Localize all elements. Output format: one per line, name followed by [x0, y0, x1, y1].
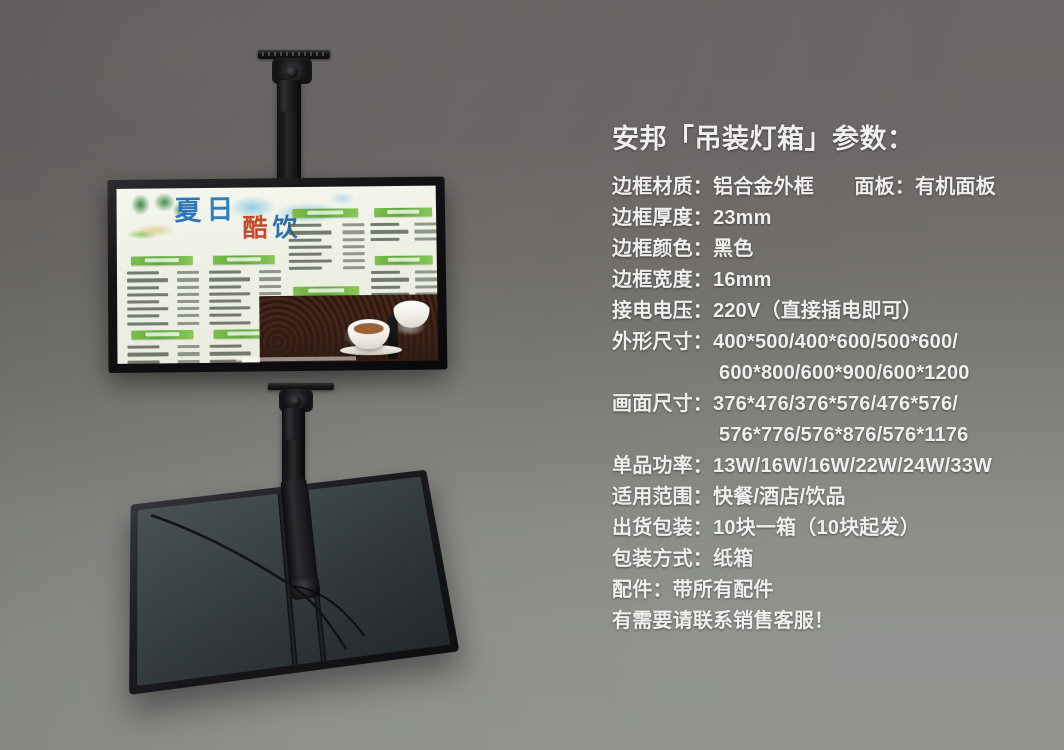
menu-item-name: [288, 224, 321, 227]
menu-item-name: [371, 271, 400, 274]
menu-item-price: [177, 285, 199, 288]
menu-item-row: [371, 269, 437, 275]
menu-section-header: [131, 256, 193, 266]
rear-swivel-hub: [289, 574, 321, 600]
menu-item-name: [289, 238, 322, 241]
menu-item-name: [128, 360, 160, 363]
menu-item-name: [209, 292, 250, 296]
menu-item-price: [414, 230, 436, 233]
spec-line: 边框材质：铝合金外框 面板：有机面板: [612, 172, 1042, 203]
spec-line: 边框厚度：23mm: [612, 203, 1042, 234]
menu-item-name: [289, 267, 322, 270]
spec-line: 画面尺寸：376*476/376*576/476*576/: [612, 389, 1042, 420]
menu-item-name: [127, 279, 168, 283]
menu-item-name: [209, 321, 250, 325]
menu-item-row: [371, 277, 437, 283]
menu-item-name: [370, 223, 399, 226]
menu-item-row: [128, 358, 200, 364]
lightbox-upper: 夏 日 酷 饮: [107, 177, 447, 373]
menu-item-name: [209, 306, 250, 310]
menu-item-price: [259, 270, 281, 273]
coffee-photo: [259, 294, 438, 362]
menu-section-header: [213, 255, 275, 265]
menu-item-row: [288, 222, 364, 228]
spec-line: 有需要请联系销售客服！: [612, 606, 1042, 637]
specification-list: 边框材质：铝合金外框 面板：有机面板边框厚度：23mm边框颜色：黑色边框宽度：1…: [612, 172, 1042, 637]
menu-item-row: [127, 306, 199, 312]
menu-section-header: [375, 255, 433, 265]
menu-item-price: [259, 277, 281, 280]
menu-item-price: [177, 307, 199, 310]
menu-item-price: [343, 245, 365, 248]
menu-item-name: [371, 278, 409, 281]
spec-line: 包装方式：纸箱: [612, 544, 1042, 575]
menu-item-price: [259, 292, 281, 295]
menu-item-row: [209, 276, 281, 282]
menu-item-name: [127, 315, 159, 318]
headline-char-1: 夏: [174, 198, 201, 225]
menu-item-name: [289, 260, 332, 264]
menu-item-name: [209, 271, 241, 274]
menu-item-row: [127, 270, 199, 276]
product-photo-scene: 夏 日 酷 饮: [0, 0, 1064, 750]
menu-item-name: [371, 285, 400, 288]
spec-line: 单品功率：13W/16W/16W/22W/24W/33W: [612, 451, 1042, 482]
menu-item-price: [415, 285, 437, 288]
menu-item-name: [209, 285, 241, 288]
menu-item-name: [127, 307, 168, 311]
menu-item-row: [289, 229, 365, 235]
menu-item-row: [127, 313, 199, 319]
ceiling-plate-screws: [262, 52, 326, 56]
menu-item-price: [343, 266, 365, 269]
menu-item-name: [127, 286, 159, 289]
menu-item-price: [177, 278, 199, 281]
menu-item-row: [127, 351, 199, 357]
menu-item-price: [414, 223, 436, 226]
menu-item-name: [209, 314, 241, 317]
menu-item-price: [177, 293, 199, 296]
coffee-cup-back: [393, 300, 429, 327]
specification-panel: 安邦「吊装灯箱」参数： 边框材质：铝合金外框 面板：有机面板边框厚度：23mm边…: [612, 122, 1042, 637]
menu-item-price: [415, 278, 437, 281]
menu-item-name: [209, 278, 250, 282]
menu-section-header: [131, 330, 193, 340]
menu-item-row: [127, 320, 199, 326]
menu-item-price: [414, 237, 436, 240]
menu-section-rows: [127, 270, 199, 328]
spec-line: 边框颜色：黑色: [612, 234, 1042, 265]
menu-artwork: 夏 日 酷 饮: [116, 186, 438, 364]
menu-item-name: [127, 346, 159, 349]
menu-item-price: [178, 345, 200, 348]
lightbox-lower: [129, 470, 459, 695]
page-title: 安邦「吊装灯箱」参数：: [612, 122, 1042, 156]
menu-item-name: [289, 253, 322, 256]
menu-item-row: [127, 299, 199, 305]
menu-item-price: [343, 238, 365, 241]
menu-item-price: [177, 271, 199, 274]
spec-line: 配件：带所有配件: [612, 575, 1042, 606]
menu-item-row: [127, 344, 199, 350]
menu-item-name: [289, 245, 332, 249]
menu-item-row: [289, 265, 365, 271]
menu-item-price: [415, 271, 437, 274]
menu-item-name: [127, 293, 168, 297]
menu-section-rows: [288, 222, 365, 273]
menu-section-rows: [370, 221, 436, 243]
spec-line: 边框宽度：16mm: [612, 265, 1042, 296]
menu-item-price: [178, 360, 200, 363]
lightbox-upper-frame: 夏 日 酷 饮: [107, 177, 447, 373]
spec-line: 适用范围：快餐/酒店/饮品: [612, 482, 1042, 513]
menu-section-header: [292, 208, 358, 218]
menu-item-name: [289, 231, 332, 235]
menu-item-name: [371, 237, 400, 240]
menu-item-row: [289, 258, 365, 264]
spec-line: 600*800/600*900/600*1200: [612, 358, 1042, 389]
menu-item-name: [127, 271, 159, 274]
menu-item-name: [209, 299, 241, 302]
menu-item-name: [210, 345, 242, 348]
product-assembly: 夏 日 酷 饮: [0, 0, 600, 750]
menu-item-price: [343, 259, 365, 262]
menu-item-name: [127, 353, 168, 357]
menu-item-name: [370, 230, 408, 233]
menu-item-price: [259, 285, 281, 288]
menu-item-row: [371, 284, 437, 290]
menu-item-row: [370, 221, 436, 227]
menu-item-row: [289, 237, 365, 243]
spec-line: 外形尺寸：400*500/400*600/500*600/: [612, 327, 1042, 358]
menu-item-row: [370, 229, 436, 235]
spec-line: 接电电压：220V（直接插电即可）: [612, 296, 1042, 327]
menu-item-price: [342, 231, 364, 234]
menu-item-name: [127, 300, 159, 303]
spec-line: 出货包装：10块一箱（10块起发）: [612, 513, 1042, 544]
menu-item-price: [177, 314, 199, 317]
menu-item-price: [177, 300, 199, 303]
menu-item-row: [289, 244, 365, 250]
menu-item-name: [127, 322, 168, 326]
menu-item-row: [127, 291, 199, 297]
menu-item-row: [209, 269, 281, 275]
menu-item-row: [289, 251, 365, 257]
menu-item-price: [178, 352, 200, 355]
menu-item-name: [210, 352, 251, 356]
spec-line: 576*776/576*876/576*1176: [612, 420, 1042, 451]
menu-item-row: [371, 236, 437, 242]
menu-item-price: [342, 223, 364, 226]
headline-char-2: 日: [206, 197, 233, 224]
menu-section-rows: [127, 344, 199, 364]
menu-item-row: [127, 277, 199, 283]
headline-char-3: 酷: [242, 215, 267, 240]
menu-item-price: [343, 252, 365, 255]
menu-section-header: [374, 208, 432, 218]
menu-item-price: [177, 321, 199, 324]
menu-item-row: [127, 284, 199, 290]
menu-item-row: [209, 283, 281, 289]
